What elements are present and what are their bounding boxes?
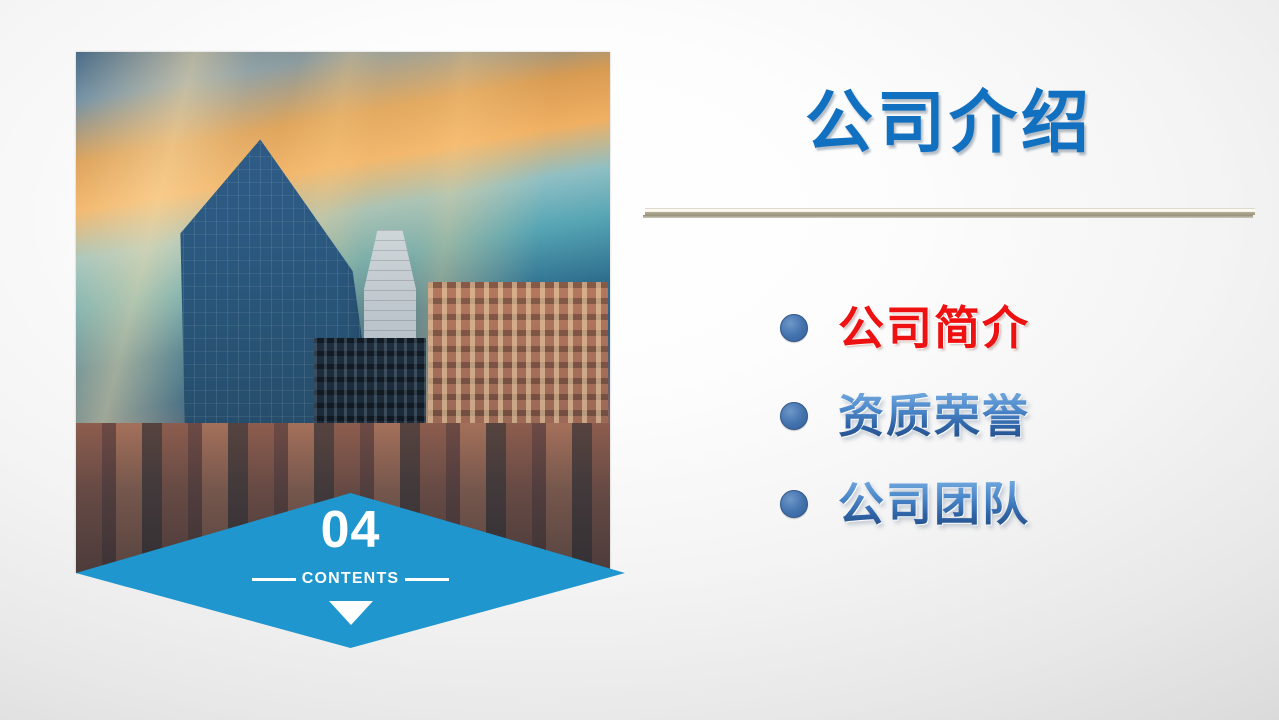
bullet-dot-icon [780,490,808,518]
agenda-item-label: 资质荣誉 [838,393,1030,439]
contents-caption: CONTENTS [76,570,625,588]
title-divider [643,208,1253,220]
list-item[interactable]: 公司简介 [780,284,1250,372]
cityscape-photo [76,52,610,573]
section-number: 04 [76,504,625,556]
down-triangle-glyph [329,601,373,625]
bullet-dot-icon [780,314,808,342]
agenda-item-label: 公司团队 [838,481,1030,527]
page-title: 公司介绍 [643,84,1255,162]
agenda-list: 公司简介 资质荣誉 公司团队 [780,284,1250,548]
caption-rule-left [252,578,296,581]
contents-label: CONTENTS [302,570,400,588]
agenda-item-label: 公司简介 [838,305,1030,351]
list-item[interactable]: 公司团队 [780,460,1250,548]
bullet-dot-icon [780,402,808,430]
list-item[interactable]: 资质荣誉 [780,372,1250,460]
down-triangle-icon [76,601,625,625]
caption-rule-right [405,578,449,581]
presentation-slide: 04 CONTENTS 公司介绍 公司简介 资质荣誉 公司团队 [0,0,1279,720]
divider-shadow [643,215,1253,218]
